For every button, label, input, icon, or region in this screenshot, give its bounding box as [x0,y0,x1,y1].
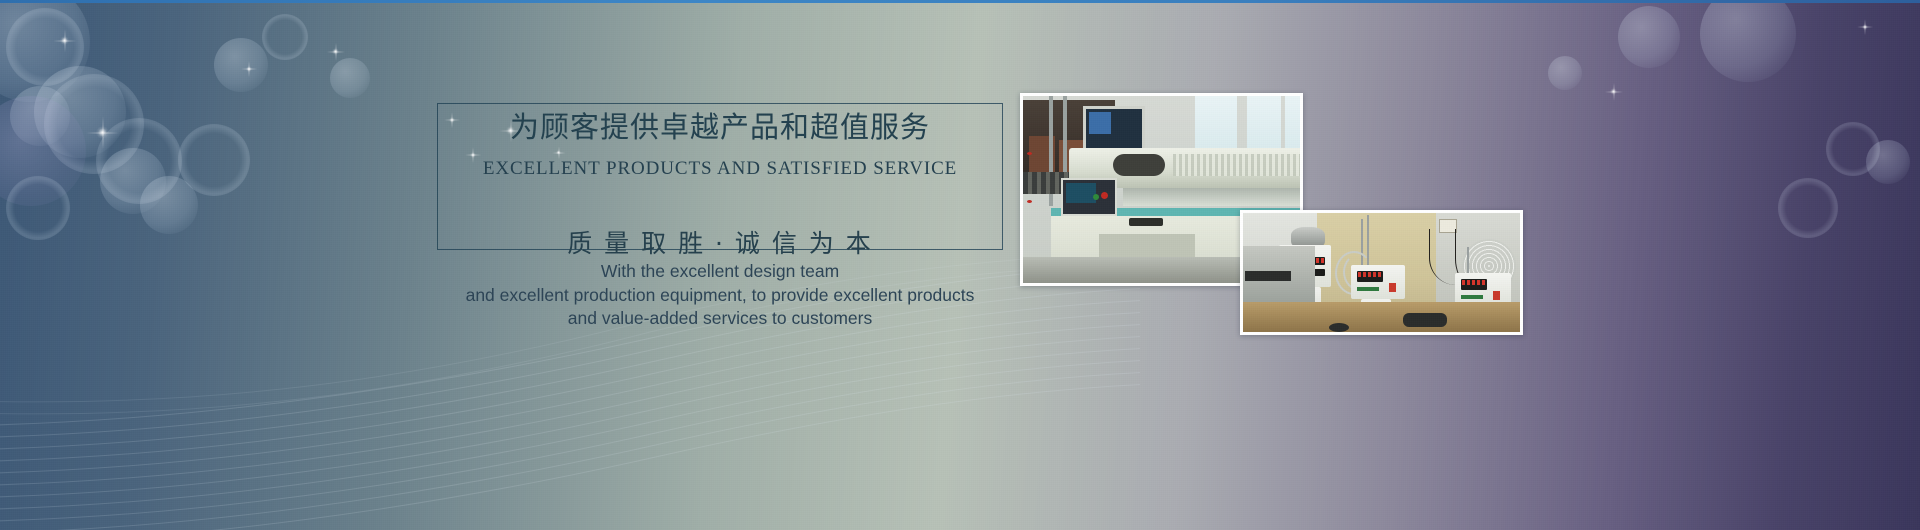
page-title: 为顾客提供卓越产品和超值服务 [437,110,1003,145]
photo-crimping-machines-content [1243,213,1520,332]
bokeh-circle [214,38,268,92]
sparkle-icon [246,66,252,72]
company-slogan: 质 量 取 胜 · 诚 信 为 本 [420,224,1020,260]
bokeh-circle [96,118,182,204]
bokeh-circle [10,86,70,146]
description-line-2: and excellent production equipment, to p… [300,284,1140,308]
description-line-3: and value-added services to customers [300,307,1140,331]
bokeh-circle [262,14,308,60]
bokeh-circle [6,8,84,86]
bokeh-circle [1866,140,1910,184]
page-subtitle: EXCELLENT PRODUCTS AND SATISFIED SERVICE [437,158,1003,180]
sparkle-icon [1862,24,1868,30]
bokeh-circle [1700,0,1796,82]
bokeh-circle [1778,178,1838,238]
promo-banner: 为顾客提供卓越产品和超值服务 EXCELLENT PRODUCTS AND SA… [0,0,1920,530]
bokeh-circle [0,0,90,102]
bokeh-circle [100,148,166,214]
bokeh-circle [1548,56,1582,90]
top-accent-rule [0,0,1920,3]
bokeh-circle [1618,6,1680,68]
sparkle-icon [60,36,69,45]
bokeh-circle [1826,122,1880,176]
sparkle-icon [96,126,109,139]
bokeh-circle [44,74,144,174]
sparkle-icon [1610,88,1617,95]
bokeh-circle [34,66,126,158]
bokeh-circle [140,176,198,234]
sparkle-icon [332,48,339,55]
bokeh-circle [0,96,86,206]
description-paragraph: With the excellent design team and excel… [300,260,1140,331]
bokeh-circle [330,58,370,98]
bokeh-circle [178,124,250,196]
photo-crimping-machines[interactable] [1240,210,1523,335]
description-line-1: With the excellent design team [300,260,1140,284]
bokeh-circle [6,176,70,240]
